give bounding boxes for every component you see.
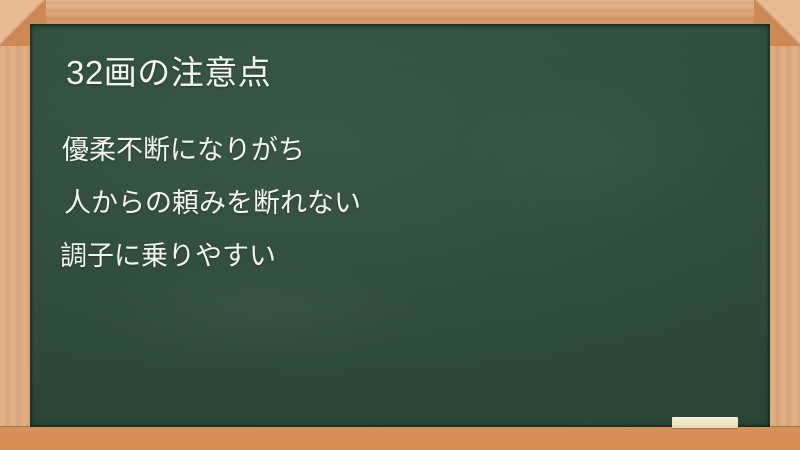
slide-body-line: 優柔不断になりがち (30, 124, 770, 177)
slide-title: 32画の注意点 (66, 54, 271, 93)
chalk-stick-icon (672, 417, 738, 428)
slide-body-list: 優柔不断になりがち 人からの頼みを断れない 調子に乗りやすい (30, 124, 770, 283)
slide-body-line: 人からの頼みを断れない (30, 177, 770, 230)
frame-bottom-ledge (0, 426, 800, 450)
chalkboard-surface: 32画の注意点 優柔不断になりがち 人からの頼みを断れない 調子に乗りやすい (30, 24, 770, 427)
frame-top-rail (0, 0, 800, 24)
chalkboard-slide: 32画の注意点 優柔不断になりがち 人からの頼みを断れない 調子に乗りやすい (0, 0, 800, 450)
slide-body-line: 調子に乗りやすい (30, 230, 770, 283)
